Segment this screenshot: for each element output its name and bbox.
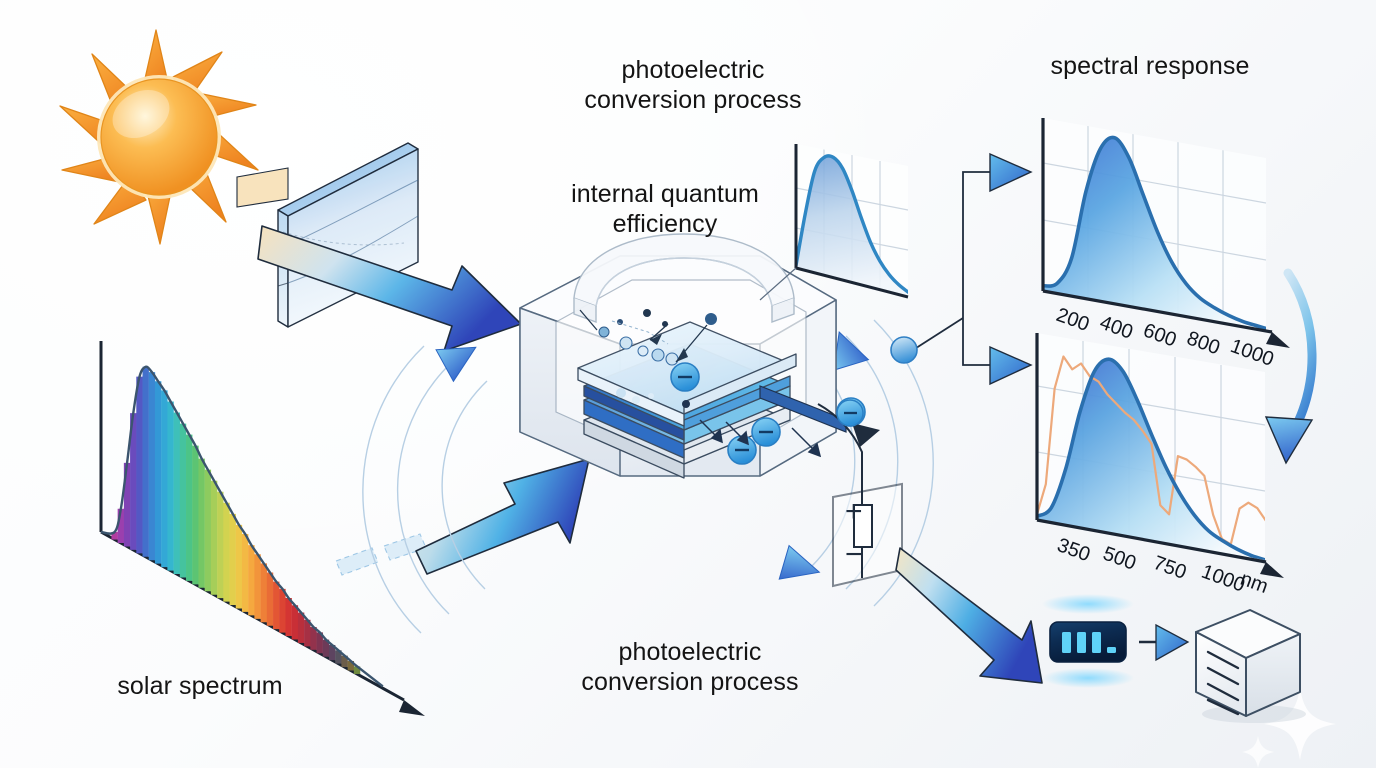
label-solar-spectrum: solar spectrum <box>70 672 330 702</box>
axis-tick-label: 200 <box>1053 304 1092 336</box>
axis-tick-label: 350 <box>1054 534 1093 566</box>
label-photoelectric-conversion-top: photoelectric conversion process <box>548 56 838 115</box>
sun-icon <box>60 30 258 244</box>
spectral-response-chart-top: 2004006008001000 <box>1043 118 1290 371</box>
dashed-light-beam <box>336 534 426 575</box>
label-spectral-response: spectral response <box>1000 52 1300 82</box>
axis-tick-label: 500 <box>1100 543 1139 575</box>
data-server-cube-icon[interactable] <box>1196 610 1306 723</box>
electron-minus-icon <box>837 400 863 426</box>
circuit-minus-sign: − <box>845 538 863 572</box>
electron-minus-icon <box>671 363 699 391</box>
label-photoelectric-conversion-bottom: photoelectric conversion process <box>540 638 840 697</box>
sunbeam-ray <box>237 168 288 207</box>
meter-display-icon[interactable] <box>1042 594 1134 688</box>
spectral-response-chart-bottom: 3505007501000nm <box>1037 333 1284 598</box>
big-gradient-arrow-icon[interactable] <box>896 548 1042 683</box>
electron-minus-icon <box>752 418 780 446</box>
label-internal-quantum-efficiency: internal quantum efficiency <box>540 180 790 239</box>
axis-tick-label: 800 <box>1184 327 1223 359</box>
solar-spectrum-chart <box>101 341 425 716</box>
circuit-plus-sign: + <box>845 495 863 529</box>
axis-tick-label: 400 <box>1097 312 1136 344</box>
curved-arrow-icon <box>1266 273 1312 463</box>
axis-tick-label: 750 <box>1150 552 1189 584</box>
triangle-arrowhead-icon <box>1139 625 1188 660</box>
axis-tick-label: 600 <box>1140 319 1179 351</box>
triangle-arrowhead-icon <box>990 154 1031 384</box>
diagram-canvas: 2004006008001000 35050075 <box>0 0 1376 768</box>
